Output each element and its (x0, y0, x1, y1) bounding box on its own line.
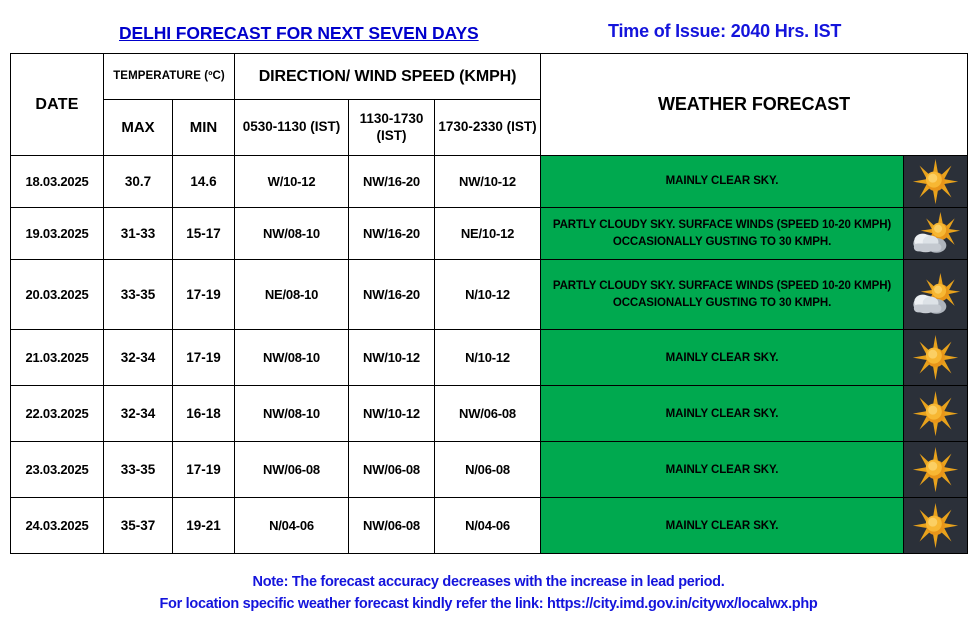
cell-weather-icon (904, 498, 968, 554)
column-header-slot-0530-1130: 0530-1130 (IST) (235, 100, 349, 156)
cell-weather-icon (904, 208, 968, 260)
footer-notes: Note: The forecast accuracy decreases wi… (0, 571, 977, 615)
cell-wind-slot2: NW/06-08 (349, 442, 435, 498)
cell-weather-icon (904, 442, 968, 498)
cell-weather-icon (904, 330, 968, 386)
cell-forecast-text: MAINLY CLEAR SKY. (541, 156, 904, 208)
cell-wind-slot3: N/04-06 (435, 498, 541, 554)
cell-date: 18.03.2025 (11, 156, 104, 208)
column-header-min: MIN (173, 100, 235, 156)
cell-max-temp: 32-34 (104, 330, 173, 386)
table-row: 20.03.2025 33-35 17-19 NE/08-10 NW/16-20… (11, 260, 968, 330)
table-row: 18.03.2025 30.7 14.6 W/10-12 NW/16-20 NW… (11, 156, 968, 208)
column-header-slot-1730-2330: 1730-2330 (IST) (435, 100, 541, 156)
table-row: 22.03.2025 32-34 16-18 NW/08-10 NW/10-12… (11, 386, 968, 442)
cell-wind-slot1: NE/08-10 (235, 260, 349, 330)
issue-time-label: Time of Issue: 2040 Hrs. IST (608, 21, 841, 42)
column-header-weather-forecast: WEATHER FORECAST (541, 54, 968, 156)
forecast-table: DATE TEMPERATURE (ºC) DIRECTION/ WIND SP… (10, 53, 968, 554)
cell-wind-slot1: NW/08-10 (235, 330, 349, 386)
cell-wind-slot1: NW/08-10 (235, 386, 349, 442)
table-row: 21.03.2025 32-34 17-19 NW/08-10 NW/10-12… (11, 330, 968, 386)
cell-wind-slot2: NW/16-20 (349, 260, 435, 330)
sun-icon (904, 444, 967, 495)
cell-wind-slot3: NE/10-12 (435, 208, 541, 260)
cell-wind-slot2: NW/10-12 (349, 330, 435, 386)
sun-icon (904, 156, 967, 207)
sun-icon (904, 388, 967, 439)
cell-weather-icon (904, 156, 968, 208)
table-row: 23.03.2025 33-35 17-19 NW/06-08 NW/06-08… (11, 442, 968, 498)
cell-forecast-text: MAINLY CLEAR SKY. (541, 386, 904, 442)
table-row: 24.03.2025 35-37 19-21 N/04-06 NW/06-08 … (11, 498, 968, 554)
cell-date: 24.03.2025 (11, 498, 104, 554)
table-row: 19.03.2025 31-33 15-17 NW/08-10 NW/16-20… (11, 208, 968, 260)
cell-forecast-text: PARTLY CLOUDY SKY. SURFACE WINDS (SPEED … (541, 208, 904, 260)
cell-weather-icon (904, 260, 968, 330)
cell-wind-slot2: NW/06-08 (349, 498, 435, 554)
cell-date: 21.03.2025 (11, 330, 104, 386)
cell-min-temp: 17-19 (173, 260, 235, 330)
cell-weather-icon (904, 386, 968, 442)
column-header-max: MAX (104, 100, 173, 156)
cell-date: 19.03.2025 (11, 208, 104, 260)
cell-wind-slot1: NW/06-08 (235, 442, 349, 498)
cell-wind-slot3: NW/10-12 (435, 156, 541, 208)
cell-min-temp: 17-19 (173, 330, 235, 386)
cell-max-temp: 30.7 (104, 156, 173, 208)
page-title: DELHI FORECAST FOR NEXT SEVEN DAYS (119, 23, 479, 44)
cell-wind-slot3: N/06-08 (435, 442, 541, 498)
cell-min-temp: 15-17 (173, 208, 235, 260)
note-location-link: For location specific weather forecast k… (0, 593, 977, 615)
cell-date: 22.03.2025 (11, 386, 104, 442)
column-header-slot-1130-1730: 1130-1730 (IST) (349, 100, 435, 156)
cell-min-temp: 16-18 (173, 386, 235, 442)
cell-wind-slot2: NW/16-20 (349, 156, 435, 208)
cell-wind-slot3: N/10-12 (435, 260, 541, 330)
cell-wind-slot3: N/10-12 (435, 330, 541, 386)
sun-icon (904, 500, 967, 551)
table-header-row-1: DATE TEMPERATURE (ºC) DIRECTION/ WIND SP… (11, 54, 968, 100)
column-header-direction-wind-speed: DIRECTION/ WIND SPEED (KMPH) (235, 54, 541, 100)
sun-cloud-icon (904, 208, 967, 259)
cell-forecast-text: MAINLY CLEAR SKY. (541, 330, 904, 386)
cell-wind-slot1: W/10-12 (235, 156, 349, 208)
table-header: DATE TEMPERATURE (ºC) DIRECTION/ WIND SP… (11, 54, 968, 156)
cell-wind-slot1: N/04-06 (235, 498, 349, 554)
cell-forecast-text: PARTLY CLOUDY SKY. SURFACE WINDS (SPEED … (541, 260, 904, 330)
cell-min-temp: 17-19 (173, 442, 235, 498)
cell-forecast-text: MAINLY CLEAR SKY. (541, 498, 904, 554)
note-accuracy: Note: The forecast accuracy decreases wi… (0, 571, 977, 593)
cell-min-temp: 14.6 (173, 156, 235, 208)
cell-date: 23.03.2025 (11, 442, 104, 498)
cell-min-temp: 19-21 (173, 498, 235, 554)
page-header: DELHI FORECAST FOR NEXT SEVEN DAYS Time … (0, 0, 977, 52)
cell-max-temp: 33-35 (104, 260, 173, 330)
cell-date: 20.03.2025 (11, 260, 104, 330)
table-body: 18.03.2025 30.7 14.6 W/10-12 NW/16-20 NW… (11, 156, 968, 554)
cell-max-temp: 31-33 (104, 208, 173, 260)
column-header-date: DATE (11, 54, 104, 156)
cell-max-temp: 32-34 (104, 386, 173, 442)
cell-wind-slot1: NW/08-10 (235, 208, 349, 260)
cell-wind-slot2: NW/10-12 (349, 386, 435, 442)
cell-wind-slot2: NW/16-20 (349, 208, 435, 260)
cell-max-temp: 35-37 (104, 498, 173, 554)
column-header-temperature: TEMPERATURE (ºC) (104, 54, 235, 100)
cell-wind-slot3: NW/06-08 (435, 386, 541, 442)
cell-max-temp: 33-35 (104, 442, 173, 498)
sun-cloud-icon (904, 269, 967, 320)
cell-forecast-text: MAINLY CLEAR SKY. (541, 442, 904, 498)
sun-icon (904, 332, 967, 383)
